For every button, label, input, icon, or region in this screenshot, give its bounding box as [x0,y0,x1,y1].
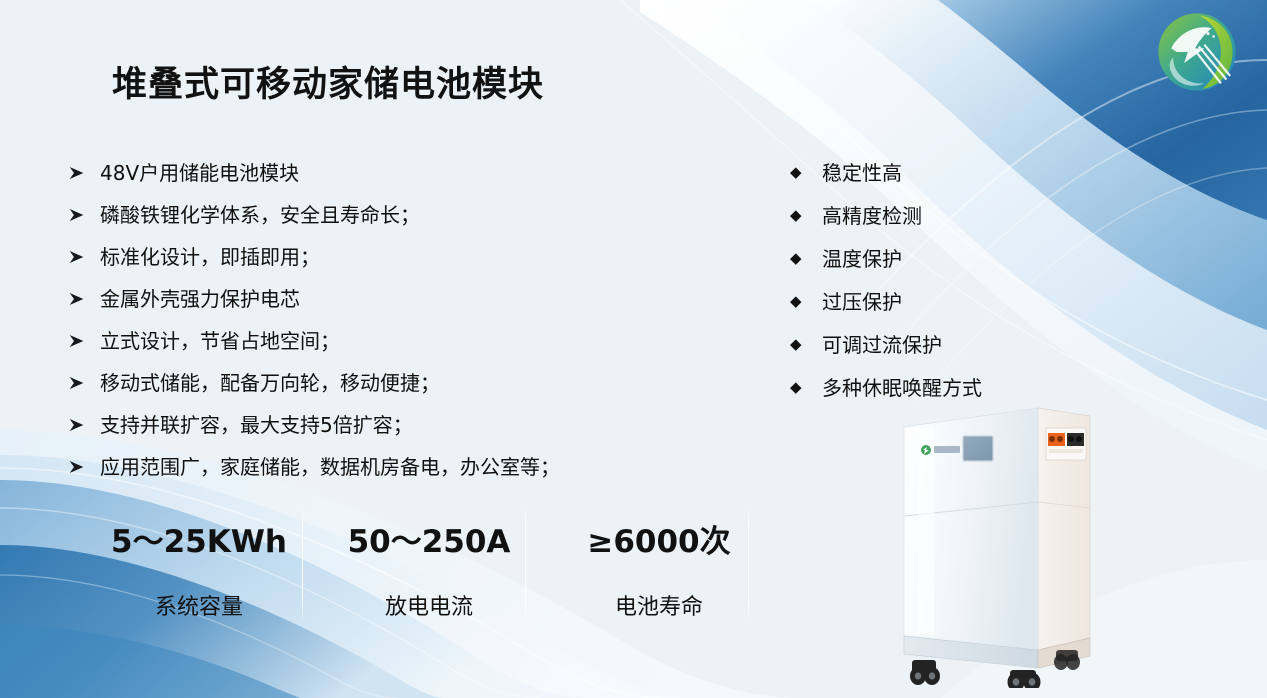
list-item-label: 支持并联扩容，最大支持5倍扩容； [100,404,413,446]
list-item-label: 温度保护 [822,238,902,281]
list-item-label: 高精度检测 [822,195,922,238]
arrowhead-bullet-icon [68,320,100,362]
list-item-label: 磷酸铁锂化学体系，安全且寿命长； [100,194,420,236]
stat-value: ≥6000次 [587,516,730,561]
arrowhead-bullet-icon [68,152,100,194]
diamond-bullet-icon: ◆ [790,367,822,409]
diamond-bullet-icon: ◆ [790,195,822,237]
page-title: 堆叠式可移动家储电池模块 [112,56,544,107]
stat-label: 电池寿命 [615,589,703,621]
arrowhead-bullet-icon [68,194,100,236]
list-item: ◆ 高精度检测 [790,195,1120,238]
features-right-list: ◆ 稳定性高 ◆ 高精度检测 ◆ 温度保护 ◆ 过压保护 ◆ 可调过流保护 ◆ … [790,152,1120,410]
list-item: ◆ 稳定性高 [790,152,1120,195]
list-item-label: 可调过流保护 [822,324,942,367]
stat-label: 放电电流 [385,589,473,621]
arrowhead-bullet-icon [68,446,100,488]
list-item-label: 立式设计，节省占地空间； [100,320,340,362]
list-item: 支持并联扩容，最大支持5倍扩容； [68,404,708,446]
features-left-list: 48V户用储能电池模块 磷酸铁锂化学体系，安全且寿命长； 标准化设计，即插即用；… [68,152,708,488]
list-item: ◆ 温度保护 [790,238,1120,281]
slide-canvas: 堆叠式可移动家储电池模块 48V户用储能电池模块 磷酸铁锂化学体系，安全且寿命长… [0,0,1267,698]
product-battery-cabinet [860,388,1130,688]
list-item: 应用范围广，家庭储能，数据机房备电，办公室等； [68,446,708,488]
spec-stats-row: 5～25KWh 系统容量 50～250A 放电电流 ≥6000次 电池寿命 [84,508,774,620]
list-item-label: 金属外壳强力保护电芯 [100,278,300,320]
list-item: ◆ 可调过流保护 [790,324,1120,367]
list-item-label: 标准化设计，即插即用； [100,236,320,278]
list-item-label: 48V户用储能电池模块 [100,152,299,194]
list-item: 磷酸铁锂化学体系，安全且寿命长； [68,194,708,236]
list-item: ◆ 过压保护 [790,281,1120,324]
list-item: 移动式储能，配备万向轮，移动便捷； [68,362,708,404]
diamond-bullet-icon: ◆ [790,324,822,366]
diamond-bullet-icon: ◆ [790,281,822,323]
list-item-label: 移动式储能，配备万向轮，移动便捷； [100,362,440,404]
stat-value: 5～25KWh [111,516,287,561]
diamond-bullet-icon: ◆ [790,238,822,280]
list-item: 48V户用储能电池模块 [68,152,708,194]
list-item-label: 应用范围广，家庭储能，数据机房备电，办公室等； [100,446,560,488]
stat-capacity: 5～25KWh 系统容量 [84,508,314,620]
list-item-label: 稳定性高 [822,152,902,195]
list-item: 立式设计，节省占地空间； [68,320,708,362]
stat-discharge-current: 50～250A 放电电流 [314,508,544,620]
company-leaf-logo [1151,6,1243,98]
arrowhead-bullet-icon [68,404,100,446]
list-item-label: 过压保护 [822,281,902,324]
list-item: 金属外壳强力保护电芯 [68,278,708,320]
arrowhead-bullet-icon [68,236,100,278]
list-item: 标准化设计，即插即用； [68,236,708,278]
stat-label: 系统容量 [155,589,243,621]
diamond-bullet-icon: ◆ [790,152,822,194]
stat-cycle-life: ≥6000次 电池寿命 [544,508,774,620]
stat-value: 50～250A [348,516,511,561]
arrowhead-bullet-icon [68,362,100,404]
arrowhead-bullet-icon [68,278,100,320]
